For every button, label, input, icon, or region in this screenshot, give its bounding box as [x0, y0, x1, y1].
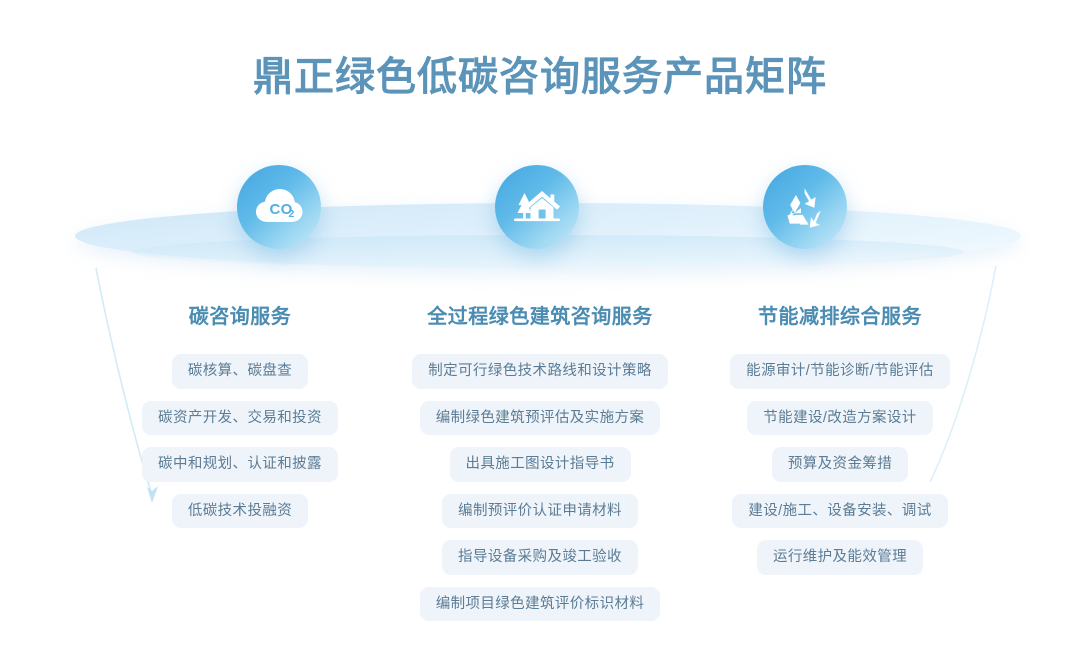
- page-title: 鼎正绿色低碳咨询服务产品矩阵: [0, 50, 1080, 104]
- service-item[interactable]: 运行维护及能效管理: [757, 540, 923, 575]
- service-item[interactable]: 编制绿色建筑预评估及实施方案: [420, 401, 661, 436]
- svg-text:CO: CO: [270, 201, 293, 218]
- service-item[interactable]: 碳中和规划、认证和披露: [142, 447, 338, 482]
- column-heading: 节能减排综合服务: [758, 300, 922, 329]
- column-heading: 碳咨询服务: [189, 300, 292, 329]
- column-carbon-consulting: 碳咨询服务 碳核算、碳盘查 碳资产开发、交易和投资 碳中和规划、认证和披露 低碳…: [90, 300, 390, 540]
- recycle-icon: [781, 184, 829, 230]
- service-item[interactable]: 制定可行绿色技术路线和设计策略: [412, 354, 668, 389]
- node-energy-saving[interactable]: [763, 165, 847, 249]
- service-item[interactable]: 能源审计/节能诊断/节能评估: [730, 354, 950, 389]
- column-heading: 全过程绿色建筑咨询服务: [427, 300, 653, 329]
- service-item[interactable]: 编制预评价认证申请材料: [442, 494, 638, 529]
- node-green-building[interactable]: [495, 165, 579, 249]
- service-item[interactable]: 出具施工图设计指导书: [450, 447, 631, 482]
- service-item[interactable]: 碳核算、碳盘查: [172, 354, 308, 389]
- platform-ellipse: [75, 203, 1021, 269]
- service-item[interactable]: 预算及资金筹措: [772, 447, 908, 482]
- service-item[interactable]: 建设/施工、设备安装、调试: [732, 494, 947, 529]
- service-item[interactable]: 节能建设/改造方案设计: [747, 401, 932, 436]
- svg-text:2: 2: [289, 208, 295, 220]
- service-columns: 碳咨询服务 碳核算、碳盘查 碳资产开发、交易和投资 碳中和规划、认证和披露 低碳…: [0, 300, 1080, 633]
- green-building-house-icon: [512, 185, 562, 229]
- service-item[interactable]: 低碳技术投融资: [172, 494, 308, 529]
- node-carbon-consulting[interactable]: CO 2: [237, 165, 321, 249]
- column-green-building-consulting: 全过程绿色建筑咨询服务 制定可行绿色技术路线和设计策略 编制绿色建筑预评估及实施…: [390, 300, 690, 633]
- service-item[interactable]: 编制项目绿色建筑评价标识材料: [420, 587, 661, 622]
- column-energy-saving-services: 节能减排综合服务 能源审计/节能诊断/节能评估 节能建设/改造方案设计 预算及资…: [690, 300, 990, 587]
- service-item[interactable]: 碳资产开发、交易和投资: [142, 401, 338, 436]
- service-item[interactable]: 指导设备采购及竣工验收: [442, 540, 638, 575]
- co2-cloud-icon: CO 2: [253, 184, 305, 230]
